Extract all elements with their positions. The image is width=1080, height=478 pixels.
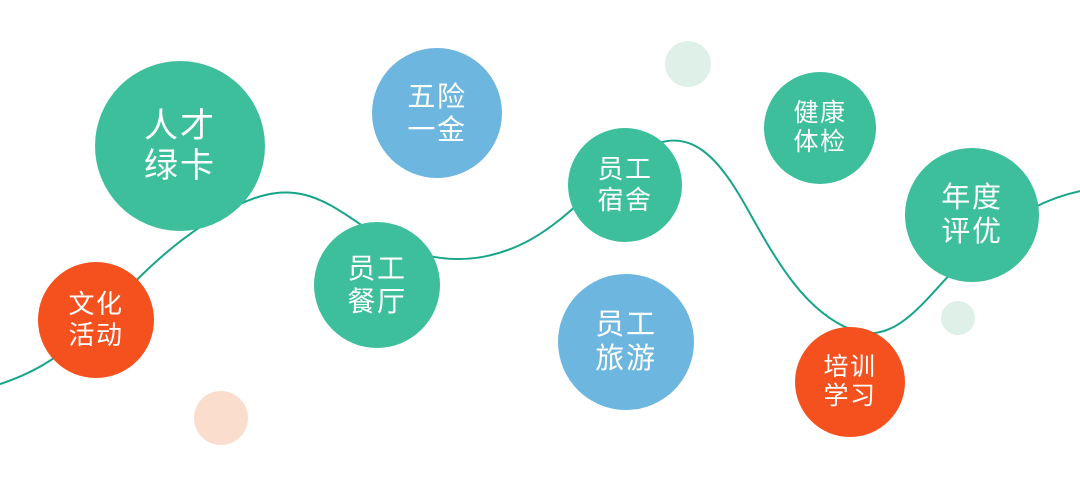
- deco-dot-mint-top: [665, 41, 711, 87]
- bubble-label-line-1: 员工: [347, 252, 406, 285]
- bubble-talent-green-card[interactable]: 人才 绿卡: [95, 61, 265, 231]
- bubble-label-line-2: 学习: [823, 382, 876, 412]
- bubble-label-line-1: 员工: [595, 308, 656, 342]
- bubble-staff-canteen[interactable]: 员工 餐厅: [314, 222, 440, 348]
- bubble-label-line-1: 人才: [144, 106, 216, 146]
- bubble-staff-dormitory[interactable]: 员工 宿舍: [568, 128, 682, 242]
- bubble-training-study[interactable]: 培训 学习: [795, 327, 905, 437]
- bubble-label-line-2: 一金: [407, 113, 466, 146]
- bubble-staff-travel[interactable]: 员工 旅游: [558, 274, 694, 410]
- bubble-label-line-1: 年度: [941, 181, 1002, 215]
- bubble-label-line-2: 体检: [793, 128, 846, 158]
- bubble-label-line-2: 活动: [68, 320, 123, 351]
- bubble-health-checkup[interactable]: 健康 体检: [764, 72, 876, 184]
- bubble-label-line-1: 五险: [407, 80, 466, 113]
- bubble-label-line-2: 旅游: [595, 342, 656, 376]
- bubble-culture-activity[interactable]: 文化 活动: [38, 262, 154, 378]
- bubble-label-line-2: 宿舍: [597, 185, 652, 216]
- bubble-label-line-1: 员工: [597, 154, 652, 185]
- infographic-canvas: 人才 绿卡 文化 活动 五险 一金 员工 餐厅 员工 宿舍 员工 旅游 健康 体…: [0, 0, 1080, 478]
- deco-dot-pink-bottom: [194, 391, 248, 445]
- bubble-label-line-1: 健康: [793, 99, 846, 129]
- bubble-label-line-2: 餐厅: [347, 285, 406, 318]
- bubble-five-insurances-one-fund[interactable]: 五险 一金: [372, 48, 502, 178]
- bubble-label-line-1: 文化: [68, 289, 123, 320]
- bubble-label-line-1: 培训: [823, 353, 876, 383]
- deco-dot-mint-right: [941, 301, 975, 335]
- bubble-label-line-2: 绿卡: [144, 146, 216, 186]
- bubble-label-line-2: 评优: [941, 215, 1002, 249]
- bubble-annual-award[interactable]: 年度 评优: [905, 148, 1039, 282]
